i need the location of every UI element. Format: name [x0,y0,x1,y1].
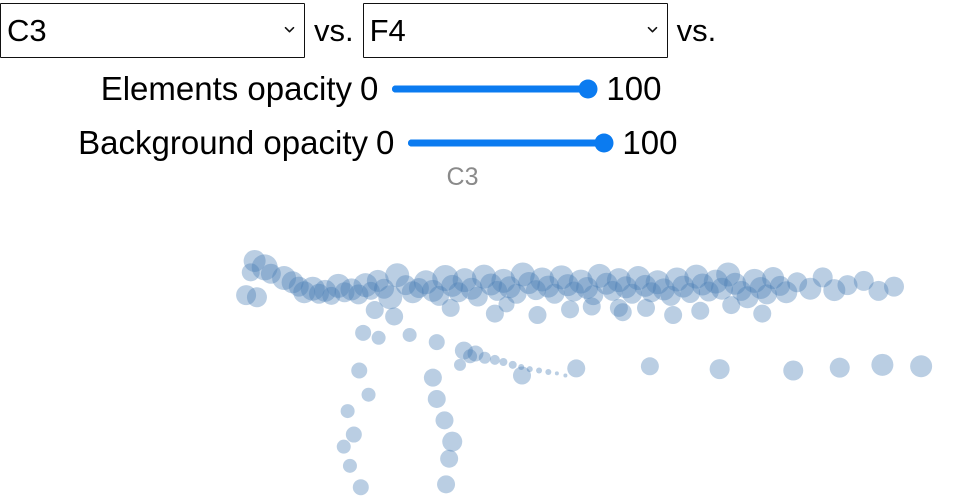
scatter-point [479,352,491,364]
scatter-point [499,358,507,366]
scatter-point [637,299,655,317]
elements-opacity-thumb[interactable] [579,80,598,99]
scatter-point [561,300,579,318]
scatter-point [499,296,515,312]
scatter-point [337,440,351,454]
scatter-point [830,358,850,378]
scatter-point [341,404,355,418]
variable-select-second[interactable]: F4 [363,3,668,58]
scatter-point [424,369,442,387]
variable-select-second-value: F4 [370,15,406,46]
elements-opacity-fill [392,86,588,93]
scatter-point [536,368,542,374]
scatter-point [442,299,460,317]
separator-vs-first: vs. [305,3,363,58]
elements-opacity-min-label: 0 [360,70,378,108]
scatter-point [871,354,893,376]
scatter-point [440,450,458,468]
scatter-point [513,367,531,385]
opacity-scatter-app: C3 vs. F4 vs. Elements opacity 0 [0,0,960,500]
scatter-point [783,361,803,381]
scatter-point [362,388,376,402]
scatter-point [884,277,904,297]
elements-opacity-slider[interactable] [392,74,588,104]
scatter-point [490,355,500,365]
scatter-point [429,334,445,350]
scatter-plot-canvas [0,160,960,500]
scatter-point [463,349,477,363]
scatter-point [545,369,551,375]
scatter-point [385,307,403,325]
variable-select-first-value: C3 [7,15,47,46]
elements-opacity-row: Elements opacity 0 100 [0,64,960,114]
scatter-point [436,411,454,429]
scatter-point [351,363,367,379]
scatter-point [428,390,446,408]
scatter-point-group [236,250,932,495]
chevron-down-icon [646,23,659,36]
scatter-point [555,371,559,375]
elements-opacity-label: Elements opacity [0,70,352,108]
scatter-point [403,328,417,342]
scatter-point [563,374,567,378]
scatter-point [567,359,585,377]
background-opacity-max-label: 100 [622,124,677,162]
background-opacity-thumb[interactable] [595,134,614,153]
scatter-point [366,301,384,319]
scatter-point [529,306,547,324]
scatter-point [247,287,267,307]
scatter-point [583,298,601,316]
scatter-point [242,263,260,281]
scatter-point [442,432,462,452]
scatter-point [910,355,932,377]
scatter-point [691,302,709,320]
scatter-point [509,361,517,369]
background-opacity-label: Background opacity [0,124,368,162]
scatter-chart: C3 0.00.51.01.52.02.53.03.5 [0,160,960,500]
chevron-down-icon [283,23,296,36]
variable-select-first[interactable]: C3 [0,3,305,58]
scatter-point [664,306,682,324]
scatter-point [346,427,362,443]
scatter-point [343,459,357,473]
scatter-point [641,357,659,375]
separator-vs-second: vs. [668,3,726,58]
scatter-point [710,359,730,379]
scatter-point [610,299,628,317]
scatter-point [353,479,369,495]
scatter-point [372,331,386,345]
background-opacity-fill [408,140,604,147]
elements-opacity-max-label: 100 [606,70,661,108]
scatter-point [753,305,771,323]
background-opacity-min-label: 0 [376,124,394,162]
variable-selector-row: C3 vs. F4 vs. [0,3,960,59]
background-opacity-slider[interactable] [408,128,604,158]
scatter-point [437,475,455,493]
scatter-point [355,325,371,341]
scatter-point [454,359,466,371]
scatter-point [722,296,740,314]
